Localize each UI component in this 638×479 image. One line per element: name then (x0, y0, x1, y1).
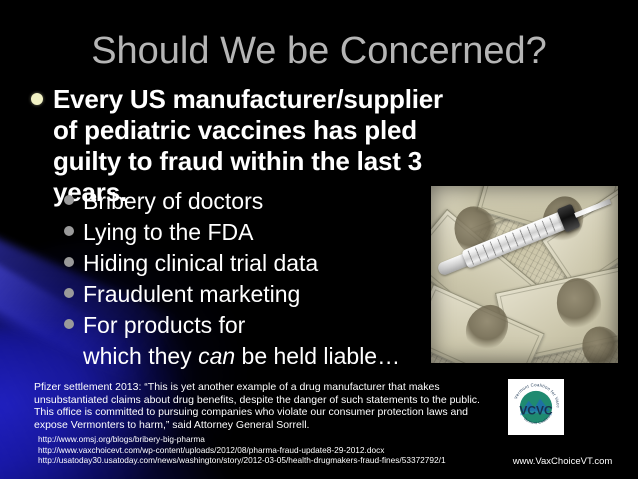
vcvc-logo: VCVC Vermont Coalition for Vaccine Choic… (508, 379, 564, 435)
presentation-slide: Should We be Concerned? Every US manufac… (0, 0, 638, 479)
bullet-dot-icon (31, 93, 43, 105)
quote-line: This office is committed to pursuing com… (34, 406, 478, 419)
source-url-list: http://www.omsj.org/blogs/bribery-big-ph… (38, 434, 508, 466)
sub-bullet-label: Hiding clinical trial data (83, 248, 318, 278)
pfizer-quote-block: Pfizer settlement 2013: “This is yet ano… (34, 381, 478, 431)
quote-line: unsubstantiated claims about drug benefi… (34, 394, 478, 407)
list-item: Lying to the FDA (64, 217, 444, 248)
continuation-emphasis: can (198, 343, 235, 369)
bullet-dot-icon (64, 195, 74, 205)
quote-line: expose Vermonters to harm,” said Attorne… (34, 419, 478, 432)
continuation-after: be held liable… (235, 343, 400, 369)
syringe-needle (574, 199, 611, 218)
sub-bullet-label: For products for (83, 310, 245, 340)
quote-line: Pfizer settlement 2013: “This is yet ano… (34, 381, 478, 394)
source-url[interactable]: http://usatoday30.usatoday.com/news/wash… (38, 455, 508, 466)
list-item: Bribery of doctors (64, 186, 444, 217)
slide-title: Should We be Concerned? (0, 29, 638, 73)
sub-bullet-label: Fraudulent marketing (83, 279, 300, 309)
bullet-dot-icon (64, 257, 74, 267)
sub-bullet-continuation: which they can be held liable… (83, 341, 444, 371)
sub-bullet-list: Bribery of doctors Lying to the FDA Hidi… (64, 186, 444, 371)
list-item: For products for (64, 310, 444, 341)
vcvc-logo-icon: VCVC Vermont Coalition for Vaccine Choic… (510, 381, 562, 433)
list-item: Fraudulent marketing (64, 279, 444, 310)
list-item: Hiding clinical trial data (64, 248, 444, 279)
sub-bullet-label: Bribery of doctors (83, 186, 263, 216)
bullet-dot-icon (64, 288, 74, 298)
organization-website[interactable]: www.VaxChoiceVT.com (487, 456, 638, 468)
continuation-before: which they (83, 343, 198, 369)
bullet-dot-icon (64, 319, 74, 329)
sub-bullet-label: Lying to the FDA (83, 217, 253, 247)
bullet-dot-icon (64, 226, 74, 236)
syringe-on-money-photo (431, 186, 618, 363)
source-url[interactable]: http://www.vaxchoicevt.com/wp-content/up… (38, 445, 508, 456)
source-url[interactable]: http://www.omsj.org/blogs/bribery-big-ph… (38, 434, 508, 445)
